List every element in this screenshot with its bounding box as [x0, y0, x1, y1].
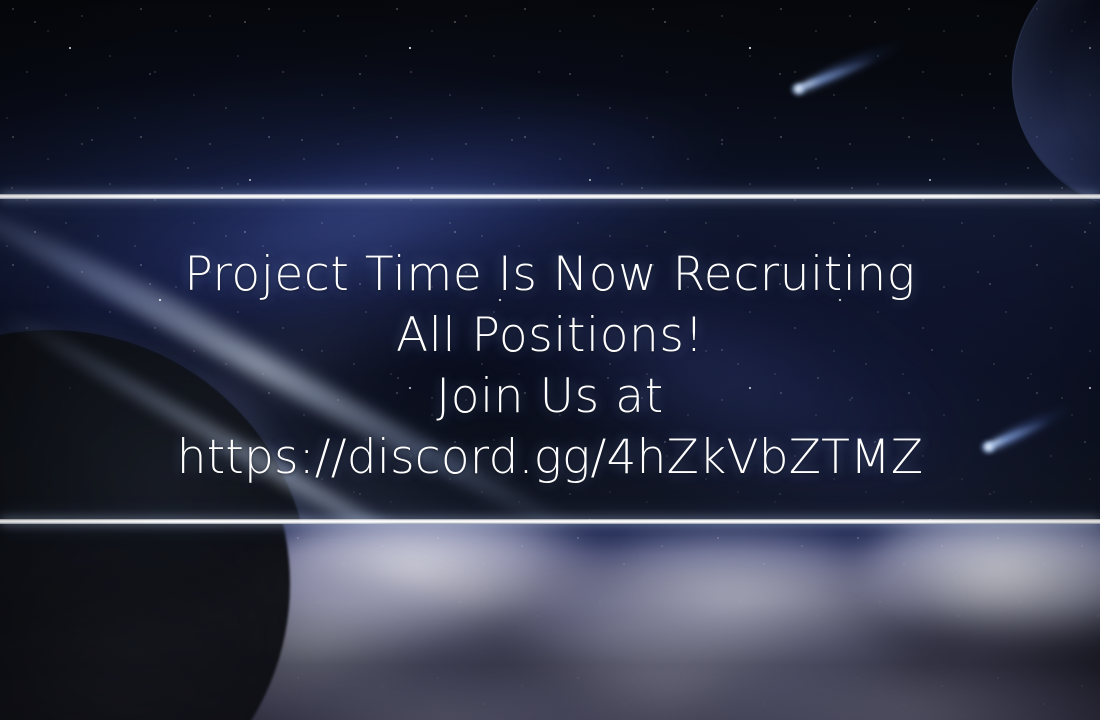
banner-text-block: Project Time Is Now Recruiting All Posit…: [0, 199, 1100, 519]
banner-image: Project Time Is Now Recruiting All Posit…: [0, 0, 1100, 720]
bottom-divider-line: [0, 519, 1100, 524]
discord-invite-url[interactable]: https://discord.gg/4hZkVbZTMZ: [177, 427, 924, 488]
subheadline-text: Join Us at: [436, 366, 663, 427]
comet-head: [791, 83, 806, 95]
cloud-field: [0, 524, 1100, 720]
headline-text: Project Time Is Now Recruiting All Posit…: [155, 244, 945, 366]
cloud-shading-overlay: [0, 524, 1100, 720]
